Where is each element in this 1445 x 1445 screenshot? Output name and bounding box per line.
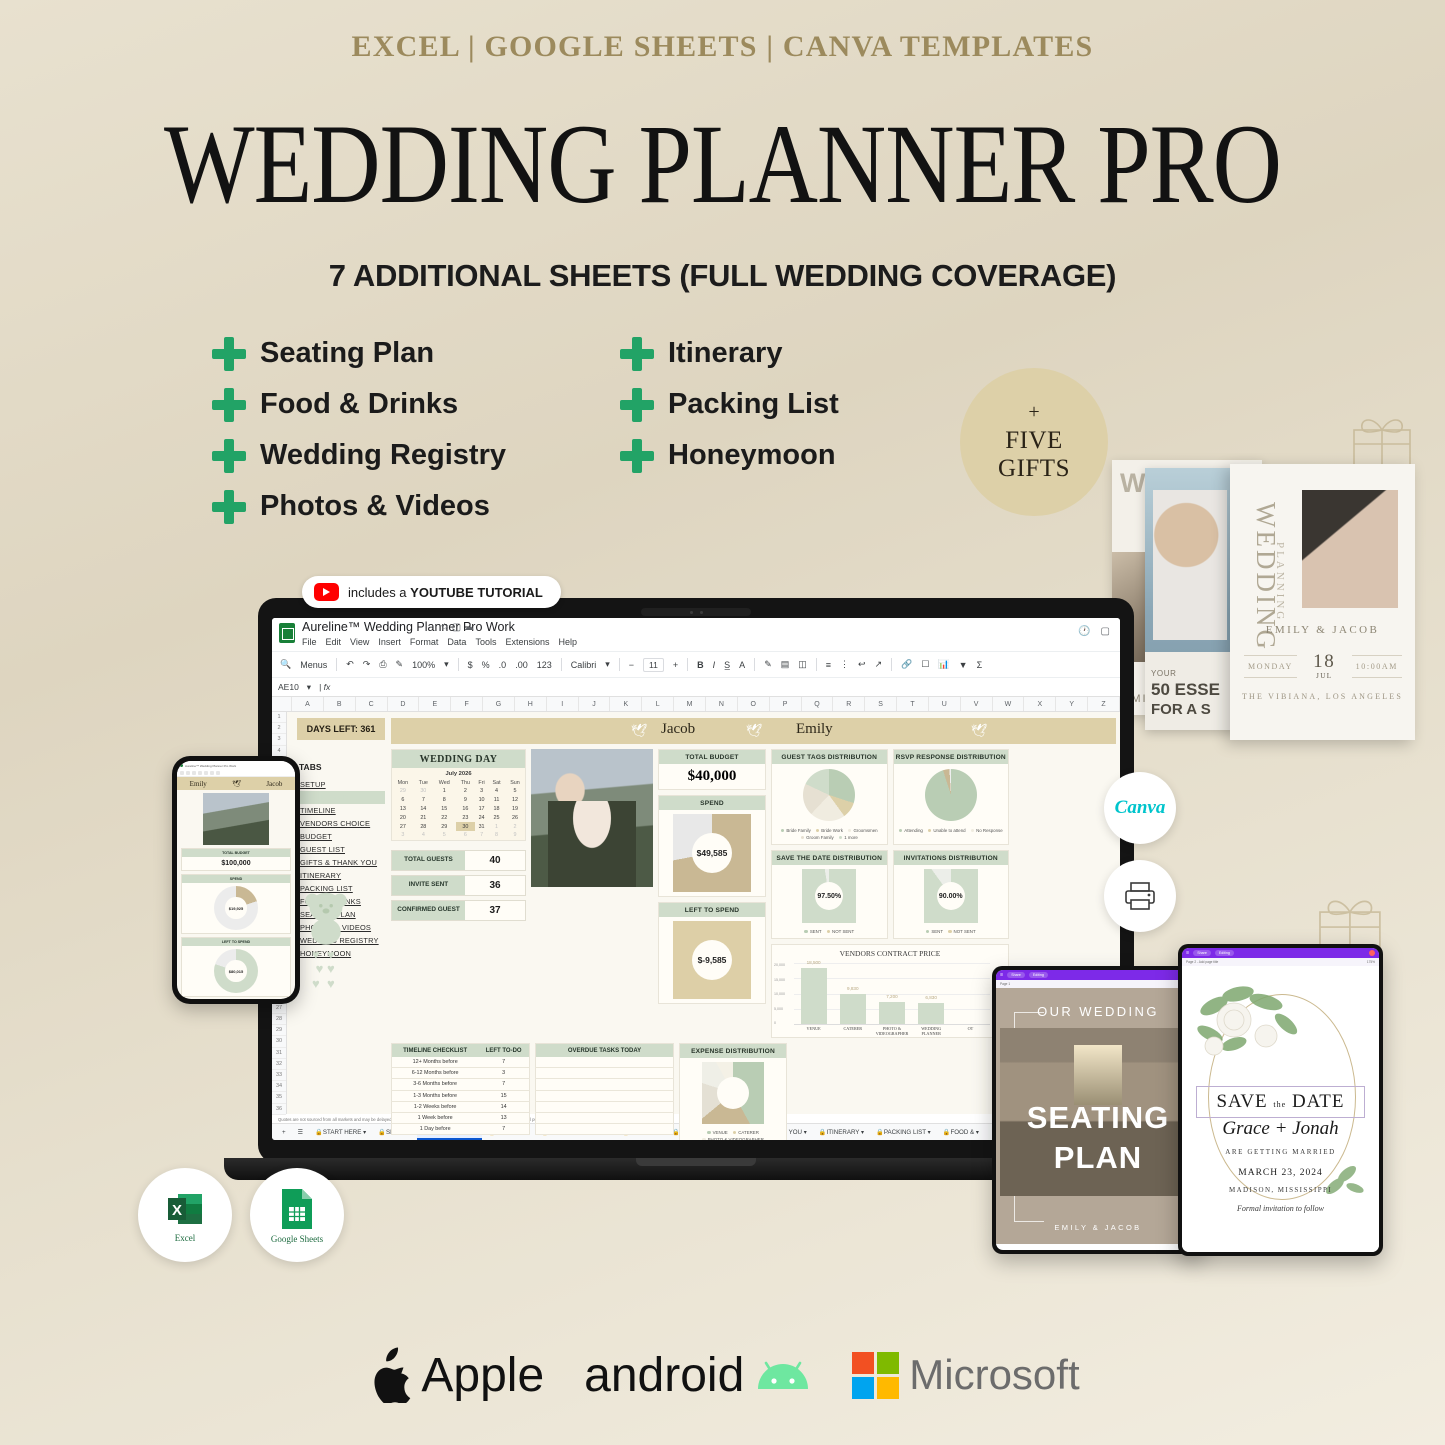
canva-editing-button[interactable]: Editing — [1215, 950, 1234, 956]
guest-stat-value: 40 — [465, 851, 525, 870]
microsoft-label: Microsoft — [909, 1351, 1079, 1399]
phone-mockup: Aureline™ Wedding Planner Pro Work Emily… — [172, 756, 300, 1004]
row-header[interactable]: 36 — [272, 1104, 286, 1115]
youtube-play-icon — [314, 583, 339, 601]
row-header[interactable]: 2 — [272, 723, 286, 734]
canva-toolbar-right — [1369, 950, 1375, 956]
sheet-tab-setup[interactable]: SETUP — [297, 778, 385, 791]
invitations-card: INVITATIONS DISTRIBUTION 90.00% SENTNOT … — [893, 850, 1010, 939]
wedding-day-card: WEDDING DAY July 2026 MonTueWedThuFriSat… — [391, 749, 526, 841]
calendar-day[interactable]: 15 — [433, 805, 456, 814]
row-header[interactable]: 28 — [272, 1014, 286, 1025]
google-sheets-icon — [279, 623, 295, 643]
invite-date: MARCH 23, 2024 — [1182, 1168, 1379, 1178]
phone-couple-photo — [203, 793, 269, 845]
calendar-day[interactable]: 26 — [505, 813, 525, 822]
guest-stat-label: TOTAL GUESTS — [392, 851, 465, 870]
invitations-value: 90.00% — [937, 882, 965, 910]
feature-item: Honeymoon — [620, 430, 839, 481]
calendar-day[interactable]: 22 — [433, 813, 456, 822]
calendar-day[interactable]: 1 — [488, 822, 505, 831]
save-the-date-card: SAVE THE DATE DISTRIBUTION 97.50% SENTNO… — [771, 850, 888, 939]
calendar-day[interactable]: 14 — [414, 805, 433, 814]
font-size-decrease[interactable]: − — [629, 660, 634, 670]
filter-icon[interactable]: ▼ — [959, 660, 968, 670]
number-format-icon[interactable]: 123 — [537, 660, 552, 670]
spend-card: SPEND $49,585 — [658, 795, 766, 897]
feature-label: Seating Plan — [260, 337, 434, 370]
calendar-day[interactable]: 1 — [433, 787, 456, 796]
excel-badge: X Excel — [138, 1168, 232, 1262]
calendar-month: July 2026 — [392, 768, 525, 779]
strikethrough-icon[interactable]: S̲ — [724, 660, 730, 670]
search-icon[interactable]: 🔍 — [280, 659, 291, 670]
spend-label: SPEND — [659, 796, 765, 810]
sheet-tab-start-here[interactable]: 🔒START HERE ▾ — [309, 1125, 372, 1139]
book-front-venue: THE VIBIANA, LOS ANGELES — [1230, 692, 1415, 701]
calendar-day[interactable]: 18 — [488, 805, 505, 814]
text-wrap-icon[interactable]: ↩ — [858, 659, 866, 670]
star-icon[interactable]: ☆ ▢ ☁ — [440, 622, 474, 633]
decimal-increase-icon[interactable]: .00 — [515, 660, 528, 670]
menu-edit[interactable]: Edit — [326, 637, 342, 647]
calendar-day[interactable]: 29 — [433, 822, 456, 831]
column-header[interactable]: D — [388, 697, 420, 711]
calendar-day[interactable]: 6 — [392, 796, 414, 805]
seating-footer-names: EMILY & JACOB — [996, 1223, 1200, 1232]
expense-title: EXPENSE DISTRIBUTION — [680, 1044, 786, 1058]
legend-item: Attending — [899, 828, 923, 833]
table-row — [536, 1090, 674, 1101]
calendar-day[interactable]: 27 — [392, 822, 414, 831]
text-color-icon[interactable]: A — [739, 660, 745, 670]
column-header[interactable]: V — [961, 697, 993, 711]
phone-left-value: $80,015 — [225, 960, 246, 981]
column-header[interactable]: E — [419, 697, 451, 711]
calendar-day[interactable]: 8 — [488, 831, 505, 840]
feature-label: Honeymoon — [668, 439, 836, 472]
book-middle-cover: YOUR 50 ESSE FOR A S — [1145, 468, 1235, 730]
document-title[interactable]: Aureline™ Wedding Planner Pro Work — [302, 620, 515, 634]
calendar-day[interactable]: 20 — [392, 813, 414, 822]
font-size-input[interactable]: 11 — [643, 658, 664, 672]
table-row — [536, 1068, 674, 1079]
sheets-icon — [180, 764, 183, 767]
calendar-weekday: Fri — [475, 779, 488, 787]
canva-editing-button[interactable]: Editing — [1029, 972, 1048, 978]
rsvp-card: RSVP RESPONSE DISTRIBUTION AttendingUnab… — [893, 749, 1010, 845]
menu-format[interactable]: Format — [410, 637, 439, 647]
bar-category-label: WEDDING PLANNER — [912, 1027, 951, 1037]
laptop-camera — [641, 608, 751, 616]
row-header[interactable]: 33 — [272, 1070, 286, 1081]
google-sheets-badge: Google Sheets — [250, 1168, 344, 1262]
row-header[interactable]: 1 — [272, 712, 286, 723]
vendors-contract-price-chart: VENDORS CONTRACT PRICE 20,00015,00010,00… — [772, 945, 1008, 1037]
fx-icon: | fx — [319, 682, 330, 692]
feature-item: Photos & Videos — [212, 481, 506, 532]
feature-item: Wedding Registry — [212, 430, 506, 481]
dove-icon: 🕊 — [746, 723, 763, 739]
phone-toolbar — [177, 770, 295, 777]
column-header[interactable]: M — [674, 697, 706, 711]
overdue-empty-cell — [536, 1090, 674, 1101]
book-front-datebar: MONDAY 18 JUL 10:00AM — [1244, 646, 1402, 686]
legend-item: Groomsmen — [848, 828, 878, 833]
plus-icon — [620, 439, 654, 473]
calendar-day[interactable]: 31 — [475, 822, 488, 831]
legend-item: Bride Work — [816, 828, 843, 833]
dove-icon: 🕊 — [631, 723, 648, 739]
calendar-weekday: Sun — [505, 779, 525, 787]
canva-page-bar: Page 1 ▾ ▢ ⋯ — [996, 980, 1200, 988]
calendar-day[interactable]: 4 — [488, 787, 505, 796]
feature-item: Seating Plan — [212, 328, 506, 379]
legend-item: Bride Family — [781, 828, 811, 833]
column-header[interactable]: L — [642, 697, 674, 711]
feature-label: Itinerary — [668, 337, 782, 370]
calendar-day[interactable]: 30 — [456, 822, 475, 831]
dashboard-col-2 — [531, 749, 653, 1038]
axis-tick: 15,000 — [774, 978, 785, 982]
history-icon[interactable]: 🕐 — [1078, 626, 1090, 637]
dashboard-lower-col-1: TIMELINE CHECKLIST LEFT TO-DO 12+ Months… — [391, 1043, 674, 1140]
link-icon[interactable]: 🔗 — [901, 659, 912, 670]
menus-label[interactable]: Menus — [300, 660, 327, 670]
sheet-tab-itinerary[interactable]: ITINERARY — [297, 869, 385, 882]
column-header[interactable]: J — [579, 697, 611, 711]
excel-icon: X — [164, 1188, 206, 1230]
column-header[interactable]: N — [706, 697, 738, 711]
row-header[interactable]: 29 — [272, 1025, 286, 1036]
column-header[interactable]: Z — [1088, 697, 1120, 711]
column-header[interactable]: R — [833, 697, 865, 711]
legend-item: VENUE — [707, 1130, 728, 1135]
column-headers: ABCDEFGHIJKLMNOPQRSTUVWXYZ — [272, 697, 1120, 712]
canva-home-icon[interactable]: ☰ — [1186, 951, 1189, 955]
sheet-tab-guest-list[interactable]: GUEST LIST — [297, 843, 385, 856]
comment-insert-icon[interactable]: ☐ — [921, 659, 929, 670]
calendar-day[interactable]: 23 — [456, 813, 475, 822]
align-icon[interactable]: ≡ — [826, 660, 831, 670]
chevron-down-icon[interactable]: ▾ — [307, 682, 311, 693]
sheet-tab-vendors-choice[interactable]: VENDORS CHOICE — [297, 817, 385, 830]
text-rotation-icon[interactable]: ↗ — [875, 659, 883, 670]
column-header[interactable]: Q — [802, 697, 834, 711]
book-middle-line2: 50 ESSE — [1151, 680, 1220, 700]
column-header[interactable]: Y — [1056, 697, 1088, 711]
dashboard-col-1: WEDDING DAY July 2026 MonTueWedThuFriSat… — [391, 749, 526, 1038]
legend-item: Unable to attend — [928, 828, 966, 833]
bar: 9,830 — [840, 994, 866, 1024]
vendors-chart-bars: 18,5009,8307,2006,830 — [794, 963, 990, 1024]
menu-insert[interactable]: Insert — [378, 637, 401, 647]
chart-insert-icon[interactable]: 📊 — [938, 659, 949, 670]
zoom-level[interactable]: 100% — [412, 660, 435, 670]
axis-tick: 5,000 — [774, 1007, 785, 1011]
calendar-day[interactable]: 11 — [488, 796, 505, 805]
column-header[interactable]: G — [483, 697, 515, 711]
column-header[interactable]: K — [610, 697, 642, 711]
formula-bar: AE10 ▾ | fx — [272, 678, 1120, 697]
calendar-day[interactable]: 2 — [505, 822, 525, 831]
functions-icon[interactable]: Σ — [977, 660, 983, 670]
calendar-day[interactable]: 9 — [505, 831, 525, 840]
column-header[interactable]: P — [770, 697, 802, 711]
redo-icon[interactable]: ↷ — [363, 659, 371, 670]
guest-stat-value: 37 — [465, 901, 525, 920]
plus-icon — [212, 337, 246, 371]
menu-file[interactable]: File — [302, 637, 317, 647]
tabs-heading: TABS — [297, 762, 385, 772]
laptop-notch-foot — [636, 1158, 756, 1166]
canva-share-button[interactable]: Share — [1193, 950, 1211, 956]
tablet-seating-screen: ☰ Share Editing Page 1 ▾ ▢ ⋯ OUR WEDDING… — [996, 970, 1200, 1250]
invitations-title: INVITATIONS DISTRIBUTION — [894, 851, 1009, 865]
phone-total-budget-label: TOTAL BUDGET — [182, 849, 290, 857]
seating-title-line2: PLAN — [996, 1140, 1200, 1176]
column-header[interactable]: C — [356, 697, 388, 711]
timeline-period: 3-6 Months before — [392, 1079, 479, 1090]
calendar-day[interactable]: 7 — [414, 796, 433, 805]
column-header[interactable]: F — [451, 697, 483, 711]
calendar-day[interactable]: 16 — [456, 805, 475, 814]
book-front-date-number: 18 — [1313, 651, 1335, 672]
row-header[interactable]: 3 — [272, 734, 286, 745]
menu-view[interactable]: View — [350, 637, 369, 647]
chevron-down-icon[interactable]: ▾ — [444, 659, 449, 670]
book-front-day: MONDAY — [1244, 655, 1297, 678]
timeline-period: 1-3 Months before — [392, 1090, 479, 1101]
overdue-empty-cell — [536, 1057, 674, 1068]
row-header[interactable]: 27 — [272, 1003, 286, 1014]
legend-item: SENT — [926, 929, 943, 934]
calendar-day[interactable]: 6 — [456, 831, 475, 840]
borders-icon[interactable]: ▤ — [781, 659, 790, 670]
calendar-day[interactable]: 30 — [414, 787, 433, 796]
italic-icon[interactable]: I — [713, 660, 716, 670]
plus-icon — [620, 337, 654, 371]
canva-toolbar: ☰ Share Editing — [1182, 948, 1379, 958]
add-sheet-button[interactable]: + — [276, 1126, 292, 1139]
spend-value: $49,585 — [692, 833, 733, 874]
calendar-day[interactable]: 12 — [505, 796, 525, 805]
phone-heart-icon: 🕊 — [232, 780, 241, 788]
teddy-bear-icon — [300, 888, 352, 946]
left-to-spend-label: LEFT TO SPEND — [659, 903, 765, 917]
legend-item: CATERER — [733, 1130, 759, 1135]
undo-icon[interactable]: ↶ — [346, 659, 354, 670]
column-header[interactable]: S — [865, 697, 897, 711]
phone-left-label: LEFT TO SPEND — [182, 938, 290, 946]
menu-extensions[interactable]: Extensions — [505, 637, 549, 647]
fill-color-icon[interactable]: ✎ — [764, 659, 772, 670]
expense-distribution-card: EXPENSE DISTRIBUTION VENUECATERERPHOTO &… — [679, 1043, 787, 1140]
groom-name: Jacob — [661, 721, 695, 738]
save-the-date-legend: SENTNOT SENT — [772, 927, 887, 938]
timeline-count: 14 — [478, 1101, 529, 1112]
row-header[interactable]: 34 — [272, 1081, 286, 1092]
percent-icon[interactable]: % — [482, 660, 490, 670]
column-header[interactable]: B — [324, 697, 356, 711]
seating-header: OUR WEDDING — [996, 1004, 1200, 1019]
column-header[interactable]: W — [993, 697, 1025, 711]
decimal-decrease-icon[interactable]: .0 — [499, 660, 507, 670]
feature-item: Itinerary — [620, 328, 839, 379]
calendar-day[interactable]: 8 — [433, 796, 456, 805]
menubar: File Edit View Insert Format Data Tools … — [302, 637, 577, 647]
save-the-date-artwork: SAVE the DATE Grace + Jonah ARE GETTING … — [1182, 966, 1379, 1252]
guest-stat-label: INVITE SENT — [392, 876, 465, 895]
guest-stats: TOTAL GUESTS 40 INVITE SENT 36 CONFIRMED… — [391, 846, 526, 921]
bar-value-label: 18,500 — [801, 960, 827, 965]
guest-tags-card: GUEST TAGS DISTRIBUTION Bride FamilyBrid… — [771, 749, 888, 845]
row-header[interactable]: 35 — [272, 1092, 286, 1103]
microsoft-icon — [852, 1352, 899, 1399]
feature-label: Food & Drinks — [260, 388, 458, 421]
menu-data[interactable]: Data — [447, 637, 466, 647]
menu-help[interactable]: Help — [558, 637, 577, 647]
sheet-tab-honeymoon[interactable]: HONEYMOON — [297, 947, 385, 960]
calendar-day[interactable]: 10 — [475, 796, 488, 805]
timeline-period: 1 Day before — [392, 1124, 479, 1135]
apple-label: Apple — [421, 1348, 544, 1403]
column-header[interactable]: H — [515, 697, 547, 711]
chevron-down-icon[interactable]: ▾ — [605, 659, 610, 670]
google-sheets-label: Google Sheets — [271, 1234, 323, 1244]
plus-symbol: + — [1028, 401, 1039, 423]
calendar-weekday: Wed — [433, 779, 456, 787]
all-sheets-button[interactable]: ☰ — [292, 1126, 310, 1139]
bar-value-label: 6,830 — [918, 995, 944, 1000]
calendar-day[interactable]: 17 — [475, 805, 488, 814]
legend-item: 1 more — [839, 835, 858, 840]
calendar-day[interactable]: 25 — [488, 813, 505, 822]
guest-stat-row: INVITE SENT 36 — [391, 875, 526, 896]
currency-icon[interactable]: $ — [468, 660, 473, 670]
calendar-day[interactable]: 4 — [414, 831, 433, 840]
guest-tags-legend: Bride FamilyBride WorkGroomsmenGroom Fam… — [772, 826, 887, 844]
timeline-count: 3 — [478, 1068, 529, 1079]
row-header[interactable]: 32 — [272, 1059, 286, 1070]
invite-subtitle: ARE GETTING MARRIED — [1182, 1148, 1379, 1156]
canva-home-icon[interactable]: ☰ — [1000, 973, 1003, 977]
sheet-tab-dashboard[interactable]: DASHBOARD — [297, 791, 385, 804]
dashboard-col-4: GUEST TAGS DISTRIBUTION Bride FamilyBrid… — [771, 749, 1009, 1038]
column-header[interactable]: O — [738, 697, 770, 711]
font-size-increase[interactable]: + — [673, 660, 678, 670]
merge-cells-icon[interactable]: ◫ — [798, 659, 807, 670]
column-header[interactable]: U — [929, 697, 961, 711]
plus-icon — [212, 490, 246, 524]
font-family-select[interactable]: Calibri — [571, 660, 597, 670]
comment-icon[interactable]: ▢ — [1101, 626, 1110, 637]
calendar-weekday: Thu — [456, 779, 475, 787]
calendar-day[interactable]: 24 — [475, 813, 488, 822]
sheet-tab-budget[interactable]: BUDGET — [297, 830, 385, 843]
vertical-align-icon[interactable]: ⋮ — [840, 659, 849, 670]
feature-label: Wedding Registry — [260, 439, 506, 472]
axis-tick: 20,000 — [774, 963, 785, 967]
timeline-period: 1 Week before — [392, 1112, 479, 1123]
phone-left-card: LEFT TO SPEND $80,015 — [181, 937, 291, 997]
column-header[interactable]: X — [1024, 697, 1056, 711]
dashboard-col-3: TOTAL BUDGET $40,000 SPEND $49,585 — [658, 749, 766, 1038]
calendar-day[interactable]: 7 — [475, 831, 488, 840]
calendar-day[interactable]: 13 — [392, 805, 414, 814]
timeline-count: 7 — [478, 1124, 529, 1135]
dove-icon: 🕊 — [971, 723, 988, 739]
phone-spend-label: SPEND — [182, 875, 290, 883]
column-header[interactable]: A — [292, 697, 324, 711]
phone-couple-banner: Emily 🕊 Jacob — [177, 777, 295, 790]
calendar-day[interactable]: 5 — [505, 787, 525, 796]
calendar-day[interactable]: 3 — [392, 831, 414, 840]
calendar-day[interactable]: 28 — [414, 822, 433, 831]
android-logo: android — [584, 1348, 812, 1403]
bar-category-label: VENUE — [794, 1027, 833, 1037]
canva-zoom-level[interactable]: 175% — [1367, 960, 1375, 964]
calendar-day[interactable]: 19 — [505, 805, 525, 814]
spend-donut-chart: $49,585 — [673, 814, 751, 892]
book-mockups: WE EMILY YOUR 50 ESSE FOR A S WEDDING PL… — [1090, 440, 1440, 740]
row-header[interactable]: 31 — [272, 1048, 286, 1059]
youtube-badge-text: includes a YOUTUBE TUTORIAL — [348, 585, 543, 600]
calendar-day[interactable]: 2 — [456, 787, 475, 796]
calendar-day[interactable]: 5 — [433, 831, 456, 840]
total-budget-label: TOTAL BUDGET — [659, 750, 765, 764]
timeline-count: 7 — [478, 1057, 529, 1068]
column-header[interactable]: I — [547, 697, 579, 711]
name-box[interactable]: AE10 — [278, 682, 299, 692]
invite-couple-names: Grace + Jonah — [1182, 1118, 1379, 1140]
vendors-chart-yaxis: 20,00015,00010,0005,0000 — [774, 963, 785, 1025]
save-the-date-donut-chart: 97.50% — [802, 869, 856, 923]
left-to-spend-donut-chart: $-9,585 — [673, 921, 751, 999]
calendar-day[interactable]: 3 — [475, 787, 488, 796]
menu-tools[interactable]: Tools — [475, 637, 496, 647]
feature-item: Food & Drinks — [212, 379, 506, 430]
vendors-contract-price-card: VENDORS CONTRACT PRICE 20,00015,00010,00… — [771, 944, 1009, 1038]
youtube-prefix: includes a — [348, 585, 410, 600]
paint-format-icon[interactable]: ✎ — [396, 659, 404, 670]
bold-icon[interactable]: B — [697, 660, 704, 670]
bar-category-label: OT — [951, 1027, 990, 1037]
book-front-date-month: JUL — [1313, 673, 1335, 680]
row-header[interactable]: 30 — [272, 1036, 286, 1047]
calendar-day[interactable]: 21 — [414, 813, 433, 822]
canva-share-button[interactable]: Share — [1007, 972, 1025, 978]
bar: 7,200 — [879, 1002, 905, 1024]
subtitle-text: 7 ADDITIONAL SHEETS (FULL WEDDING COVERA… — [0, 258, 1445, 294]
legend-item: Groom Family — [801, 835, 834, 840]
sheet-tab-timeline[interactable]: TIMELINE — [297, 804, 385, 817]
legend-item: NOT SENT — [827, 929, 855, 934]
print-icon[interactable]: ⎙ — [379, 659, 386, 670]
calendar-day[interactable]: 9 — [456, 796, 475, 805]
book-middle-line3: FOR A S — [1151, 701, 1211, 718]
overdue-empty-cell — [536, 1112, 674, 1123]
apple-logo: Apple — [365, 1347, 544, 1403]
vendors-chart-plot: 18,5009,8307,2006,830 — [794, 963, 990, 1025]
overdue-empty-cell — [536, 1124, 674, 1135]
total-budget-value: $40,000 — [659, 764, 765, 789]
printer-icon — [1123, 881, 1157, 911]
calendar-day[interactable]: 29 — [392, 787, 414, 796]
phone-groom-name: Emily — [190, 780, 207, 788]
sheet-tab-gifts-thank-you[interactable]: GIFTS & THANK YOU — [297, 856, 385, 869]
column-header[interactable]: T — [897, 697, 929, 711]
